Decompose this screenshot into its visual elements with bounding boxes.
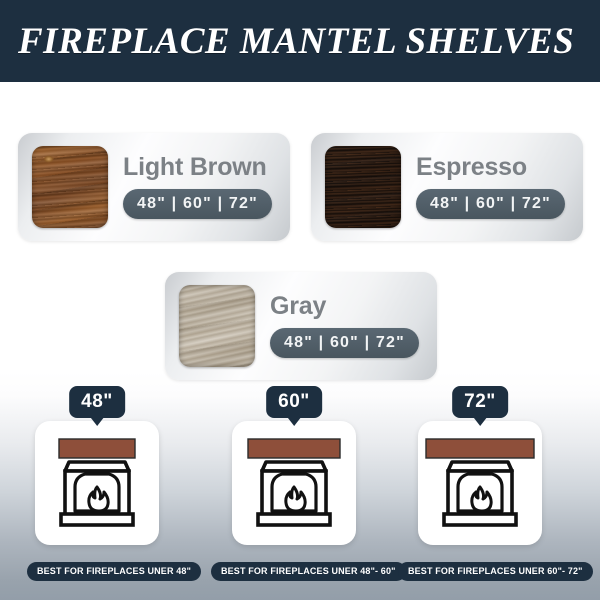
color-name-label: Espresso: [416, 155, 565, 180]
fireplace-hearth: [61, 514, 133, 525]
fireplace-icon: [45, 435, 149, 531]
size-options-pill[interactable]: 48" | 60" | 72": [270, 328, 419, 358]
caption-60: BEST FOR FIREPLACES UNER 48"- 60": [211, 562, 406, 581]
color-name-label: Light Brown: [123, 155, 272, 180]
caption-72: BEST FOR FIREPLACES UNER 60"- 72": [398, 562, 593, 581]
page-title: FIREPLACE MANTEL SHELVES: [0, 20, 574, 63]
size-badge-48: 48": [69, 386, 125, 418]
fireplace-hearth: [258, 514, 330, 525]
color-card-light-brown[interactable]: Light Brown 48" | 60" | 72": [18, 133, 290, 241]
mantel-shelf-bar: [248, 439, 340, 458]
espresso-wood-swatch: [325, 146, 401, 228]
size-card-48[interactable]: 48": [35, 421, 159, 545]
size-badge-60: 60": [266, 386, 322, 418]
color-name-label: Gray: [270, 294, 419, 319]
size-options-pill[interactable]: 48" | 60" | 72": [416, 189, 565, 219]
size-card-60[interactable]: 60": [232, 421, 356, 545]
fireplace-illustration-72: [418, 421, 542, 545]
fireplace-hearth: [444, 514, 516, 525]
fireplace-illustration-60: [232, 421, 356, 545]
light-brown-wood-swatch: [32, 146, 108, 228]
color-card-text: Espresso 48" | 60" | 72": [416, 155, 565, 219]
page-background: FIREPLACE MANTEL SHELVES Light Brown 48"…: [0, 0, 600, 600]
color-card-text: Gray 48" | 60" | 72": [270, 294, 419, 358]
fireplace-icon: [239, 435, 349, 531]
fireplace-icon: [421, 435, 539, 531]
color-card-gray[interactable]: Gray 48" | 60" | 72": [165, 272, 437, 380]
fireplace-illustration-48: [35, 421, 159, 545]
size-badge-72: 72": [452, 386, 508, 418]
color-card-text: Light Brown 48" | 60" | 72": [123, 155, 272, 219]
size-card-72[interactable]: 72": [418, 421, 542, 545]
caption-48: BEST FOR FIREPLACES UNER 48": [27, 562, 201, 581]
size-options-pill[interactable]: 48" | 60" | 72": [123, 189, 272, 219]
gray-wood-swatch: [179, 285, 255, 367]
color-card-espresso[interactable]: Espresso 48" | 60" | 72": [311, 133, 583, 241]
mantel-shelf-bar: [59, 439, 135, 458]
mantel-shelf-bar: [426, 439, 534, 458]
page-header: FIREPLACE MANTEL SHELVES: [0, 0, 600, 82]
